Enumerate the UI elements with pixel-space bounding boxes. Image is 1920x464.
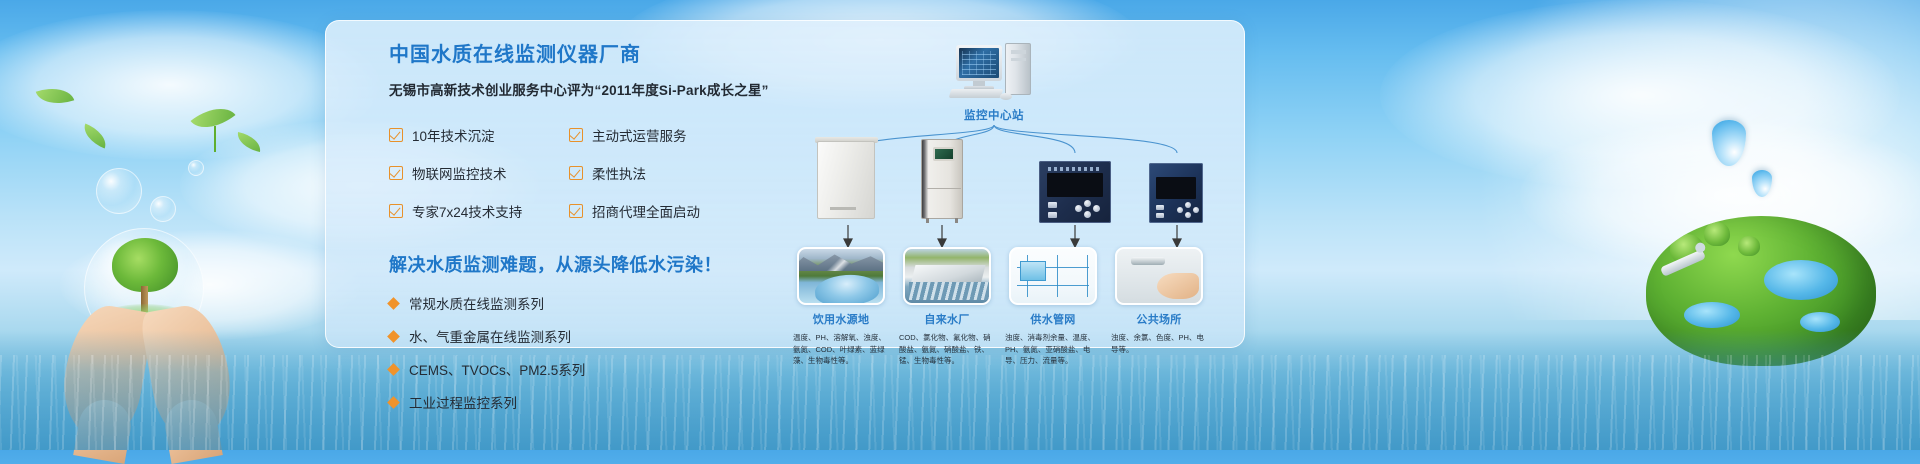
bubble-decor xyxy=(188,160,204,176)
controller-brand-mark xyxy=(1048,167,1100,171)
scene-thumbnail-pipe-schematic xyxy=(1009,247,1097,305)
monitoring-center-computer-icon xyxy=(956,43,1034,99)
checkbox-checked-icon xyxy=(389,204,403,218)
earth-lake-decor xyxy=(1800,312,1840,332)
dpad-up-icon[interactable] xyxy=(1185,202,1191,208)
product-series-label: CEMS、TVOCs、PM2.5系列 xyxy=(409,359,585,379)
rack-display xyxy=(933,147,955,161)
feature-label: 10年技术沉淀 xyxy=(412,125,495,145)
water-sparkle-decor xyxy=(0,355,1920,450)
diamond-bullet-icon xyxy=(387,396,400,409)
controller-button[interactable] xyxy=(1156,205,1164,210)
rack-leg xyxy=(955,218,958,223)
diamond-bullet-icon xyxy=(387,363,400,376)
wrist-right-decor xyxy=(161,396,223,464)
feature-label: 柔性执法 xyxy=(592,163,646,183)
earth-lake-decor xyxy=(1764,260,1838,300)
page-title: 中国水质在线监测仪器厂商 xyxy=(389,43,759,67)
controller-dpad[interactable] xyxy=(1075,200,1101,218)
scene-parameters: 温度、PH、溶解氧、浊度、氨氮、COD、叶绿素、蓝绿藻、生物毒性等。 xyxy=(793,332,889,367)
dpad-down-icon[interactable] xyxy=(1185,212,1191,218)
mouse-icon xyxy=(1000,93,1012,100)
cloud-decor xyxy=(60,230,360,340)
checkbox-checked-icon xyxy=(569,166,583,180)
device-panel-controller-large[interactable] xyxy=(1039,145,1113,223)
section-title-solution: 解决水质监测难题，从源头降低水污染！ xyxy=(389,251,759,277)
scene-title: 公共场所 xyxy=(1115,311,1203,327)
keyboard-icon xyxy=(949,89,1004,98)
scene-parameters: 浊度、余氯、色度、PH、电导等。 xyxy=(1111,332,1207,355)
feature-label: 专家7x24技术支持 xyxy=(412,201,522,221)
product-series-label: 工业过程监控系列 xyxy=(409,392,517,412)
bubble-with-tree-decor xyxy=(84,228,204,348)
checkbox-checked-icon xyxy=(389,128,403,142)
diamond-bullet-icon xyxy=(387,297,400,310)
controller-body xyxy=(1039,161,1111,223)
list-item[interactable]: 工业过程监控系列 xyxy=(389,392,759,412)
cabinet-body xyxy=(817,141,875,219)
content-panel: 中国水质在线监测仪器厂商 无锡市高新技术创业服务中心评为“2011年度Si-Pa… xyxy=(325,20,1245,348)
rack-seam xyxy=(927,188,961,189)
device-rack-analyzer[interactable] xyxy=(921,137,965,223)
feature-item: 10年技术沉淀 xyxy=(389,125,569,145)
monitor-screen xyxy=(959,48,999,78)
feature-label: 物联网监控技术 xyxy=(412,163,507,183)
checkbox-checked-icon xyxy=(569,128,583,142)
cloud-decor xyxy=(0,10,380,160)
water-droplet-decor xyxy=(1712,120,1746,166)
water-droplet-small-decor xyxy=(1752,170,1772,197)
feature-label: 主动式运营服务 xyxy=(592,125,687,145)
scene-title: 自来水厂 xyxy=(903,311,991,327)
earth-tree-decor xyxy=(1738,236,1760,256)
earth-lake-decor xyxy=(1684,302,1740,328)
tree-canopy-decor xyxy=(112,238,178,292)
dpad-left-icon[interactable] xyxy=(1075,205,1082,212)
controller-body xyxy=(1149,163,1203,223)
product-series-label: 常规水质在线监测系列 xyxy=(409,293,544,313)
dpad-up-icon[interactable] xyxy=(1084,200,1091,207)
award-subtitle: 无锡市高新技术创业服务中心评为“2011年度Si-Park成长之星” xyxy=(389,79,759,99)
sprout-stem-decor xyxy=(214,126,216,152)
faucet-decor xyxy=(1660,249,1706,277)
feature-item: 物联网监控技术 xyxy=(389,163,569,183)
bubble-decor xyxy=(150,196,176,222)
product-series-label: 水、气重金属在线监测系列 xyxy=(409,326,571,346)
scene-thumbnail-river-reservoir xyxy=(797,247,885,305)
controller-display xyxy=(1156,177,1196,199)
scene-thumbnail-waterworks-aerial xyxy=(903,247,991,305)
earth-tree-decor xyxy=(1670,234,1704,264)
device-panel-controller-small[interactable] xyxy=(1149,149,1205,223)
controller-dpad[interactable] xyxy=(1177,202,1199,219)
cloud-decor xyxy=(1520,120,1920,270)
dpad-right-icon[interactable] xyxy=(1093,205,1100,212)
scene-title: 饮用水源地 xyxy=(797,311,885,327)
leaf-decor xyxy=(235,132,263,152)
scene-parameters: COD、氯化物、氟化物、硝酸盐、氨氮、硝酸盐、铁、锰、生物毒性等。 xyxy=(899,332,995,367)
bubble-decor xyxy=(96,168,142,214)
dpad-down-icon[interactable] xyxy=(1084,211,1091,218)
hand-left-decor xyxy=(55,300,155,444)
tree-trunk-decor xyxy=(141,286,148,312)
wrist-left-decor xyxy=(73,396,135,464)
hand-right-decor xyxy=(139,300,239,444)
green-earth-decor xyxy=(1646,216,1876,366)
feature-item: 专家7x24技术支持 xyxy=(389,201,569,221)
checkbox-checked-icon xyxy=(569,204,583,218)
leaf-decor xyxy=(191,97,236,139)
system-topology-diagram: 监控中心站 xyxy=(781,29,1231,349)
dpad-left-icon[interactable] xyxy=(1177,207,1183,213)
feature-item: 招商代理全面启动 xyxy=(569,201,759,221)
list-item[interactable]: 常规水质在线监测系列 xyxy=(389,293,759,313)
scene-card-public-venue[interactable]: 公共场所 浊度、余氯、色度、PH、电导等。 xyxy=(1115,247,1203,355)
pc-tower-icon xyxy=(1005,43,1031,95)
device-row xyxy=(781,133,1231,223)
feature-checklist: 10年技术沉淀 主动式运营服务 物联网监控技术 柔性执法 专家7x24技术支持 … xyxy=(389,125,759,221)
scene-title: 供水管网 xyxy=(1009,311,1097,327)
sun-glow xyxy=(1480,0,1920,320)
list-item[interactable]: CEMS、TVOCs、PM2.5系列 xyxy=(389,359,759,379)
list-item[interactable]: 水、气重金属在线监测系列 xyxy=(389,326,759,346)
cabinet-vent xyxy=(830,207,856,210)
feature-item: 主动式运营服务 xyxy=(569,125,759,145)
rack-leg xyxy=(926,218,929,223)
checkbox-checked-icon xyxy=(389,166,403,180)
product-series-list: 常规水质在线监测系列 水、气重金属在线监测系列 CEMS、TVOCs、PM2.5… xyxy=(389,293,759,412)
cloud-decor xyxy=(1380,0,1900,190)
controller-button[interactable] xyxy=(1048,212,1057,218)
controller-display xyxy=(1047,173,1103,197)
controller-button[interactable] xyxy=(1156,213,1164,218)
scene-card-water-supply-network[interactable]: 供水管网 浊度、消毒剂余量、温度、PH、氨氮、亚硝酸盐、电导、压力、流量等。 xyxy=(1009,247,1097,367)
feature-item: 柔性执法 xyxy=(569,163,759,183)
leaf-decor xyxy=(36,81,75,111)
diamond-bullet-icon xyxy=(387,330,400,343)
monitoring-center-label: 监控中心站 xyxy=(919,107,1069,123)
left-text-column: 中国水质在线监测仪器厂商 无锡市高新技术创业服务中心评为“2011年度Si-Pa… xyxy=(389,43,759,425)
device-outdoor-cabinet-analyzer[interactable] xyxy=(817,137,879,223)
dpad-right-icon[interactable] xyxy=(1193,207,1199,213)
scene-thumbnail-handwashing-tap xyxy=(1115,247,1203,305)
feature-label: 招商代理全面启动 xyxy=(592,201,700,221)
tree-base-glow-decor xyxy=(104,304,186,326)
scene-card-drinking-water-source[interactable]: 饮用水源地 温度、PH、溶解氧、浊度、氨氮、COD、叶绿素、蓝绿藻、生物毒性等。 xyxy=(797,247,885,367)
earth-tree-decor xyxy=(1704,222,1730,246)
scene-card-waterworks[interactable]: 自来水厂 COD、氯化物、氟化物、硝酸盐、氨氮、硝酸盐、铁、锰、生物毒性等。 xyxy=(903,247,991,367)
monitor-icon xyxy=(956,45,1002,81)
leaf-decor xyxy=(79,123,110,148)
scene-parameters: 浊度、消毒剂余量、温度、PH、氨氮、亚硝酸盐、电导、压力、流量等。 xyxy=(1005,332,1101,367)
controller-button[interactable] xyxy=(1048,202,1057,208)
